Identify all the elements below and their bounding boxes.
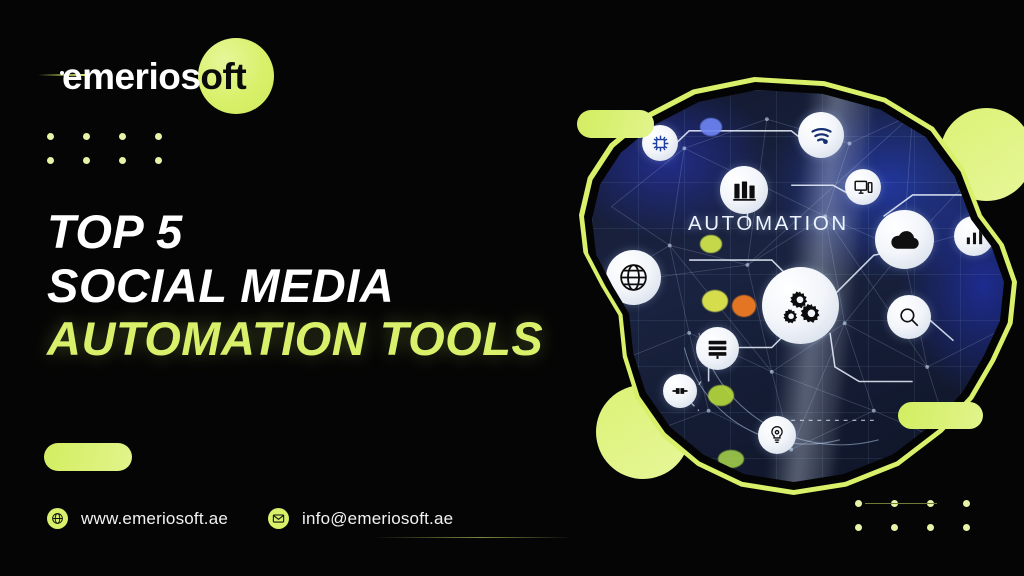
footer-underline-glow: [372, 537, 572, 538]
grid-dot: [963, 500, 970, 507]
wifi-icon: [798, 112, 844, 158]
contact-email[interactable]: info@emeriosoft.ae: [268, 508, 453, 529]
logo-wordmark-dark: oft: [200, 56, 246, 97]
grid-dot: [47, 157, 54, 164]
contact-website[interactable]: www.emeriosoft.ae: [47, 508, 228, 529]
gears-icon: [762, 267, 839, 344]
bokeh-dot: [700, 118, 722, 136]
grid-dot: [119, 157, 126, 164]
bokeh-dot: [732, 295, 756, 317]
grid-dot: [927, 524, 934, 531]
bokeh-dot: [700, 235, 722, 253]
envelope-icon: [268, 508, 289, 529]
grid-dot: [891, 524, 898, 531]
grid-dot: [155, 157, 162, 164]
connector-icon: [663, 374, 697, 408]
decor-pill-hero-bottom: [898, 402, 983, 429]
bulb-gear-icon: [758, 416, 796, 454]
logo-wordmark: emeriosoft: [62, 58, 246, 95]
headline-line-2: SOCIAL MEDIA: [47, 259, 607, 313]
globe-icon: [47, 508, 68, 529]
bokeh-dot: [702, 290, 728, 312]
grid-dot: [855, 500, 862, 507]
decor-pill-left: [44, 443, 132, 471]
grid-dot: [83, 157, 90, 164]
poster-canvas: emeriosoft TOP 5 SOCIAL MEDIA AUTOMATION…: [0, 0, 1024, 576]
grid-dot: [855, 524, 862, 531]
database-icon: [696, 327, 739, 370]
grid-connector-line: [865, 503, 937, 504]
decor-pill-hero-top: [577, 110, 654, 138]
grid-dot: [119, 133, 126, 140]
magnifier-icon: [887, 295, 931, 339]
cloud-icon: [875, 210, 934, 269]
dot-grid-top-left: [47, 133, 191, 181]
brand-logo[interactable]: emeriosoft: [38, 38, 298, 114]
headline-line-3: AUTOMATION TOOLS: [47, 312, 607, 366]
grid-dot: [83, 133, 90, 140]
server-rack-icon: [720, 166, 768, 214]
grid-dot: [155, 133, 162, 140]
website-label: www.emeriosoft.ae: [81, 509, 228, 529]
logo-wordmark-light: emerios: [62, 56, 200, 97]
headline-block: TOP 5 SOCIAL MEDIA AUTOMATION TOOLS: [47, 205, 607, 366]
footer-contact-bar: www.emeriosoft.ae info@emeriosoft.ae: [47, 508, 453, 529]
bokeh-dot: [708, 385, 734, 406]
dot-grid-bottom-right: [855, 500, 999, 548]
headline-line-1: TOP 5: [47, 205, 607, 259]
email-label: info@emeriosoft.ae: [302, 509, 453, 529]
grid-dot: [47, 133, 54, 140]
grid-dot: [963, 524, 970, 531]
hero-caption: AUTOMATION: [688, 212, 849, 236]
monitor-icon: [845, 169, 881, 205]
